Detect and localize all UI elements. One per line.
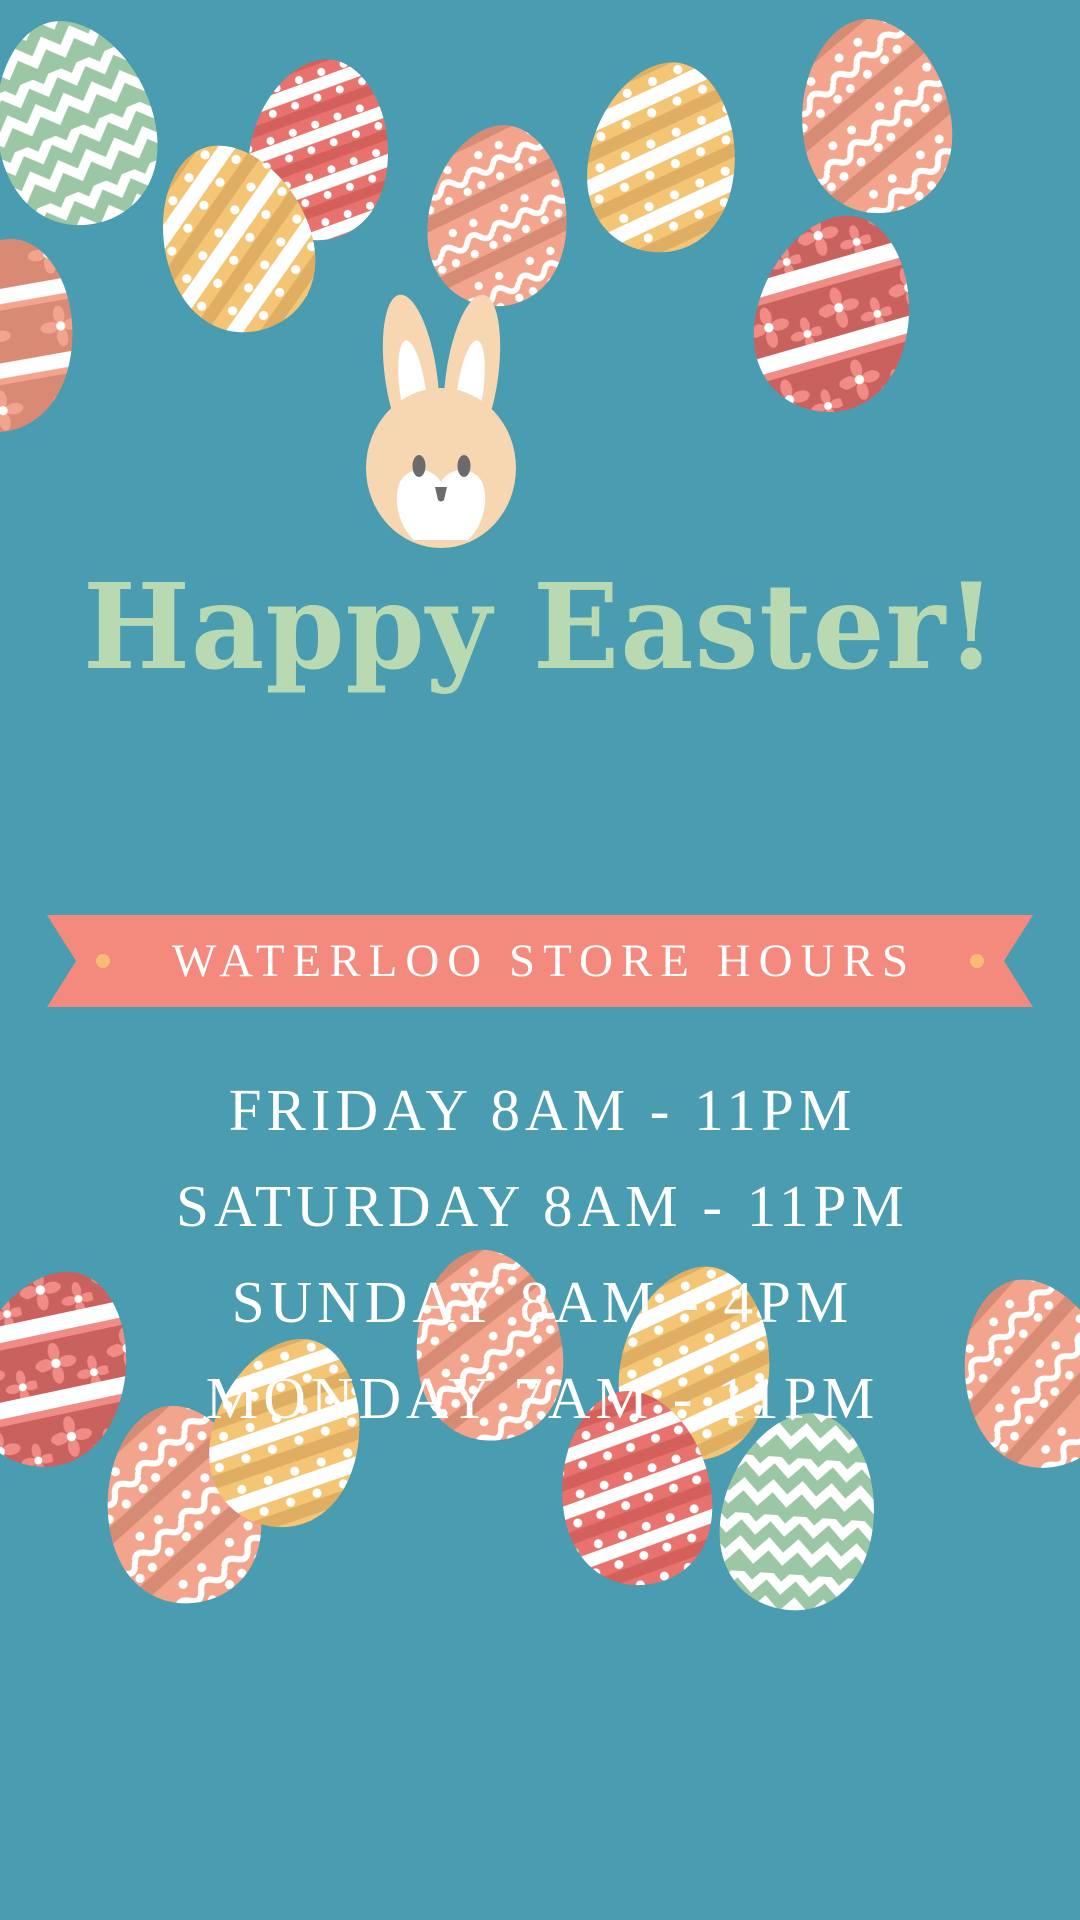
store-hours-list: FRIDAY 8AM - 11PM SATURDAY 8AM - 11PM SU… — [0, 1062, 1080, 1446]
heading-container: Happy Easter! — [0, 568, 1080, 686]
easter-store-hours-poster: Happy Easter! WATERLOO STORE HOURS FRIDA… — [0, 0, 1080, 1920]
hours-row-saturday: SATURDAY 8AM - 11PM — [0, 1158, 1080, 1254]
hours-row-sunday: SUNDAY 8AM - 4PM — [0, 1254, 1080, 1350]
ribbon-title: WATERLOO STORE HOURS — [47, 915, 1033, 1007]
hours-row-friday: FRIDAY 8AM - 11PM — [0, 1062, 1080, 1158]
store-hours-ribbon: WATERLOO STORE HOURS — [47, 915, 1033, 1007]
page-title: Happy Easter! — [83, 568, 997, 686]
hours-row-monday: MONDAY 7AM - 11PM — [0, 1350, 1080, 1446]
